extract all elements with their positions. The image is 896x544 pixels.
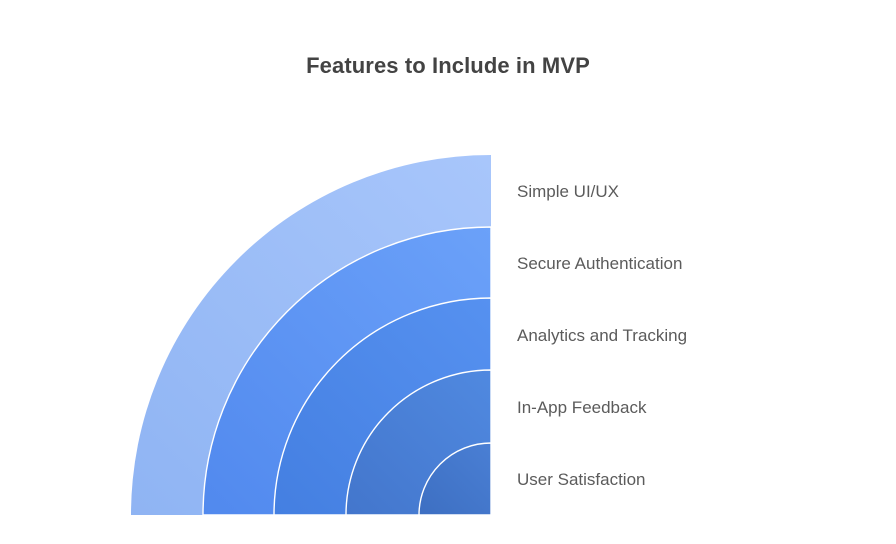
concentric-arc-chart xyxy=(0,0,896,544)
arc-ring-group xyxy=(131,155,491,515)
arc-label-5: User Satisfaction xyxy=(517,470,646,490)
arc-label-2: Secure Authentication xyxy=(517,254,682,274)
arc-label-4: In-App Feedback xyxy=(517,398,646,418)
chart-canvas: Features to Include in MVP Simple UI/UXS… xyxy=(0,0,896,544)
arc-label-1: Simple UI/UX xyxy=(517,182,619,202)
arc-label-3: Analytics and Tracking xyxy=(517,326,687,346)
